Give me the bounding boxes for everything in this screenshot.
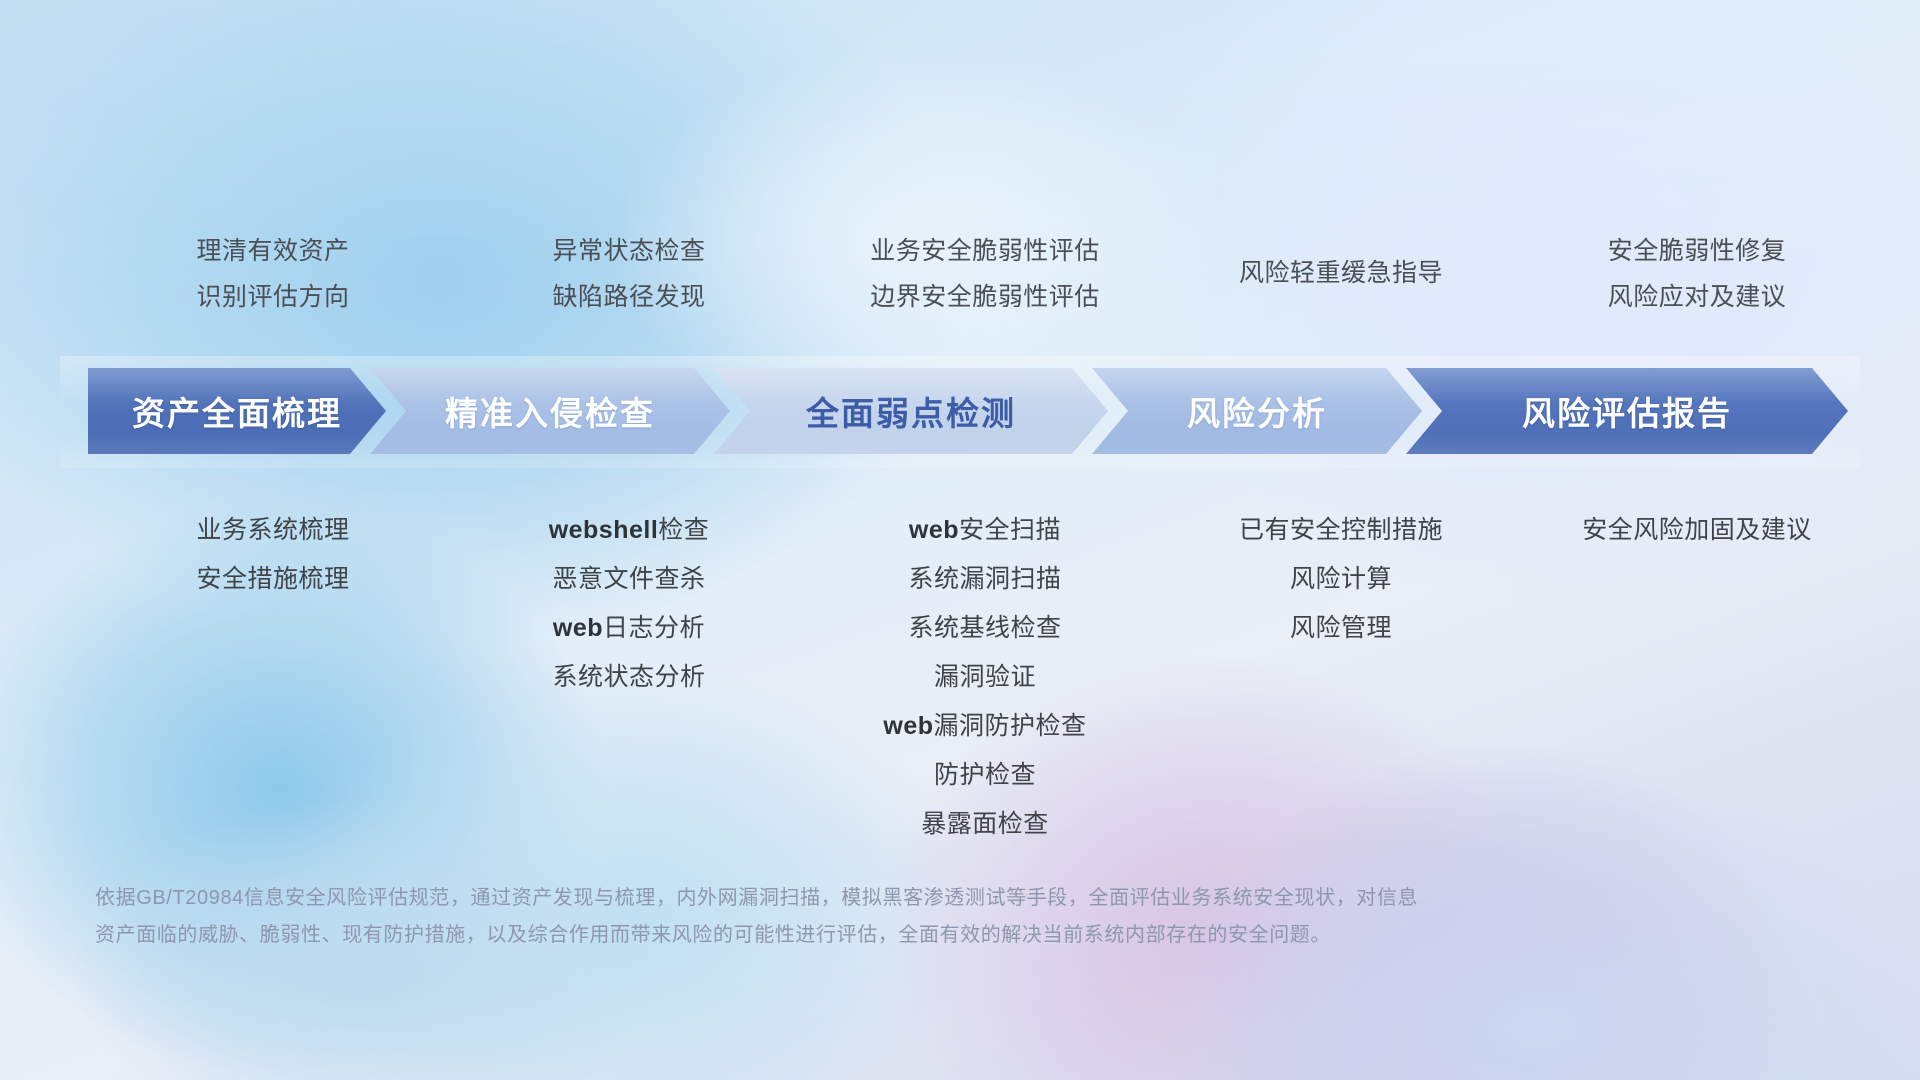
bottom-item: 系统漏洞扫描 bbox=[807, 555, 1163, 604]
top-item: 风险轻重缓急指导 bbox=[1163, 250, 1519, 296]
stage-column-1-bottom: 业务系统梳理安全措施梳理 bbox=[95, 506, 451, 604]
top-item: 风险应对及建议 bbox=[1519, 274, 1875, 320]
stage-column-1-top: 理清有效资产 识别评估方向 bbox=[95, 228, 451, 320]
bottom-item-text: 系统基线检查 bbox=[908, 614, 1061, 642]
footer-description: 依据GB/T20984信息安全风险评估规范，通过资产发现与梳理，内外网漏洞扫描，… bbox=[95, 880, 1615, 954]
bottom-item: 安全风险加固及建议 bbox=[1519, 506, 1875, 555]
bottom-item-text: 检查 bbox=[658, 516, 709, 544]
bottom-item-text: 漏洞验证 bbox=[934, 663, 1036, 691]
stage-column-5-top: 安全脆弱性修复 风险应对及建议 bbox=[1519, 228, 1875, 320]
footer-line-2: 资产面临的威胁、脆弱性、现有防护措施，以及综合作用而带来风险的可能性进行评估，全… bbox=[95, 917, 1615, 954]
bottom-item-text: 安全风险加固及建议 bbox=[1582, 516, 1812, 544]
bottom-item: 防护检查 bbox=[807, 751, 1163, 800]
bottom-item: web漏洞防护检查 bbox=[807, 702, 1163, 751]
bottom-item-prefix: web bbox=[883, 712, 933, 740]
bottom-item: 恶意文件查杀 bbox=[451, 555, 807, 604]
bottom-item-text: 安全措施梳理 bbox=[196, 565, 349, 593]
stage-column-4-top: 风险轻重缓急指导 bbox=[1163, 228, 1519, 320]
bottom-item-text: 恶意文件查杀 bbox=[552, 565, 705, 593]
top-item: 缺陷路径发现 bbox=[451, 274, 807, 320]
bottom-item-text: 暴露面检查 bbox=[921, 810, 1049, 838]
top-item: 理清有效资产 bbox=[95, 228, 451, 274]
bottom-item-text: 系统状态分析 bbox=[552, 663, 705, 691]
top-item: 识别评估方向 bbox=[95, 274, 451, 320]
stage-arrow-3[interactable]: 全面弱点检测 bbox=[714, 368, 1108, 454]
bottom-item: 暴露面检查 bbox=[807, 800, 1163, 849]
footer-line-1: 依据GB/T20984信息安全风险评估规范，通过资产发现与梳理，内外网漏洞扫描，… bbox=[95, 880, 1615, 917]
bottom-item: 风险计算 bbox=[1163, 555, 1519, 604]
bottom-item: 业务系统梳理 bbox=[95, 506, 451, 555]
top-item: 异常状态检查 bbox=[451, 228, 807, 274]
bottom-item-prefix: web bbox=[909, 516, 959, 544]
bottom-item: web日志分析 bbox=[451, 604, 807, 653]
bottom-item-prefix: webshell bbox=[549, 516, 659, 544]
bottom-list-2: webshell检查恶意文件查杀web日志分析系统状态分析 bbox=[451, 506, 807, 702]
bottom-item: 漏洞验证 bbox=[807, 653, 1163, 702]
stage-arrow-banner: 资产全面梳理 精准入侵检查 全面弱点检测 风险分析 风险评估报告 bbox=[88, 368, 1848, 454]
bottom-item-prefix: web bbox=[553, 614, 603, 642]
stage-arrow-2-label: 精准入侵检查 bbox=[445, 387, 655, 435]
stage-arrow-1[interactable]: 资产全面梳理 bbox=[88, 368, 386, 454]
bottom-item: 系统状态分析 bbox=[451, 653, 807, 702]
stage-column-5-bottom: 安全风险加固及建议 bbox=[1519, 506, 1875, 555]
top-item: 业务安全脆弱性评估 bbox=[807, 228, 1163, 274]
stage-column-3-top: 业务安全脆弱性评估 边界安全脆弱性评估 bbox=[807, 228, 1163, 320]
bottom-item: 已有安全控制措施 bbox=[1163, 506, 1519, 555]
bottom-item-text: 已有安全控制措施 bbox=[1239, 516, 1443, 544]
bottom-list-1: 业务系统梳理安全措施梳理 bbox=[95, 506, 451, 604]
bottom-item-text: 系统漏洞扫描 bbox=[908, 565, 1061, 593]
bottom-item: 风险管理 bbox=[1163, 604, 1519, 653]
stage-arrow-5-label: 风险评估报告 bbox=[1522, 387, 1732, 435]
top-item: 边界安全脆弱性评估 bbox=[807, 274, 1163, 320]
stage-arrow-2[interactable]: 精准入侵检查 bbox=[370, 368, 730, 454]
bottom-item-text: 漏洞防护检查 bbox=[934, 712, 1087, 740]
stage-column-3-bottom: web安全扫描系统漏洞扫描系统基线检查漏洞验证web漏洞防护检查防护检查暴露面检… bbox=[807, 506, 1163, 849]
stage-column-2-bottom: webshell检查恶意文件查杀web日志分析系统状态分析 bbox=[451, 506, 807, 702]
bottom-item-text: 业务系统梳理 bbox=[196, 516, 349, 544]
bottom-list-4: 已有安全控制措施风险计算风险管理 bbox=[1163, 506, 1519, 653]
bottom-item-text: 安全扫描 bbox=[959, 516, 1061, 544]
bottom-item: 安全措施梳理 bbox=[95, 555, 451, 604]
bottom-item-text: 日志分析 bbox=[603, 614, 705, 642]
stage-arrow-3-label: 全面弱点检测 bbox=[806, 387, 1016, 435]
stage-arrow-4-label: 风险分析 bbox=[1187, 387, 1327, 435]
bottom-caption-row: 业务系统梳理安全措施梳理 webshell检查恶意文件查杀web日志分析系统状态… bbox=[95, 506, 1875, 849]
bottom-item: web安全扫描 bbox=[807, 506, 1163, 555]
bottom-item-text: 风险计算 bbox=[1290, 565, 1392, 593]
top-caption-row: 理清有效资产 识别评估方向 异常状态检查 缺陷路径发现 业务安全脆弱性评估 边界… bbox=[95, 228, 1875, 320]
stage-arrow-5[interactable]: 风险评估报告 bbox=[1406, 368, 1848, 454]
stage-column-4-bottom: 已有安全控制措施风险计算风险管理 bbox=[1163, 506, 1519, 653]
top-item: 安全脆弱性修复 bbox=[1519, 228, 1875, 274]
process-diagram: 理清有效资产 识别评估方向 异常状态检查 缺陷路径发现 业务安全脆弱性评估 边界… bbox=[0, 0, 1920, 1080]
bottom-item: 系统基线检查 bbox=[807, 604, 1163, 653]
stage-arrow-4[interactable]: 风险分析 bbox=[1092, 368, 1422, 454]
bottom-item-text: 风险管理 bbox=[1290, 614, 1392, 642]
stage-column-2-top: 异常状态检查 缺陷路径发现 bbox=[451, 228, 807, 320]
bottom-item: webshell检查 bbox=[451, 506, 807, 555]
bottom-item-text: 防护检查 bbox=[934, 761, 1036, 789]
bottom-list-5: 安全风险加固及建议 bbox=[1519, 506, 1875, 555]
bottom-list-3: web安全扫描系统漏洞扫描系统基线检查漏洞验证web漏洞防护检查防护检查暴露面检… bbox=[807, 506, 1163, 849]
stage-arrow-1-label: 资产全面梳理 bbox=[132, 387, 342, 435]
